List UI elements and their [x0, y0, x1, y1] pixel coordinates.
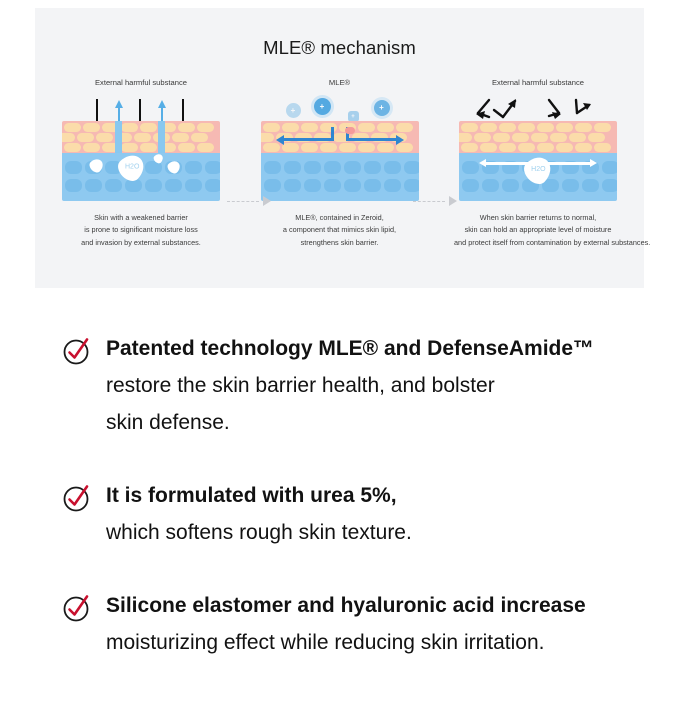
arrow-head-icon: [449, 196, 457, 206]
dermis-cells: [261, 153, 419, 201]
panel-1-artwork: H2O: [62, 95, 220, 203]
check-circle-icon: [62, 336, 92, 366]
bullet-line: Silicone elastomer and hyaluronic acid i…: [106, 587, 586, 624]
h2o-label: H2O: [525, 166, 551, 173]
bullet-line: moisturizing effect while reducing skin …: [106, 624, 586, 661]
diagram-panel-restored-barrier: External harmful substance: [454, 77, 622, 249]
h2o-label: H2O: [120, 163, 145, 170]
mle-spread-arrow-left: [283, 138, 334, 141]
panel-2-caption: MLE®, contained in Zeroid, a component t…: [256, 212, 424, 249]
mle-mechanism-diagram: MLE® mechanism External harmful substanc…: [35, 8, 644, 288]
mle-spread-arrow-right: [346, 138, 397, 141]
caption-line: When skin barrier returns to normal,: [454, 212, 622, 224]
check-circle-icon: [62, 593, 92, 623]
diagram-panel-mle-action: MLE® + + + +: [256, 77, 424, 249]
dashed-line: [227, 201, 259, 202]
caption-line: and invasion by external substances.: [57, 237, 225, 249]
mle-molecule: +: [314, 98, 331, 115]
lipid-spot: [345, 127, 355, 134]
skin-cross-section: H2O: [459, 121, 617, 201]
deflected-arrows-icon: [459, 97, 617, 123]
bullet-line: skin defense.: [106, 404, 594, 441]
skin-cross-section: [261, 121, 419, 201]
arrow-head-icon: [263, 196, 271, 206]
diagram-panels: External harmful substance: [35, 59, 644, 249]
bullet-item: Silicone elastomer and hyaluronic acid i…: [0, 587, 679, 661]
bullet-item: Patented technology MLE® and DefenseAmid…: [0, 330, 679, 441]
corneocyte-cells: [62, 121, 220, 153]
bullet-line: It is formulated with urea 5%,: [106, 477, 412, 514]
panel-2-artwork: + + + +: [261, 95, 419, 203]
check-circle-icon: [62, 483, 92, 513]
panel-3-caption: When skin barrier returns to normal, ski…: [454, 212, 622, 249]
panel-1-caption: Skin with a weakened barrier is prone to…: [57, 212, 225, 249]
flow-arrow-1: [227, 197, 271, 207]
molecule-symbol: +: [379, 104, 384, 112]
panel-2-label: MLE®: [256, 77, 424, 89]
bullet-line: restore the skin barrier health, and bol…: [106, 367, 594, 404]
caption-line: Skin with a weakened barrier: [57, 212, 225, 224]
bullet-text: It is formulated with urea 5%, which sof…: [106, 477, 412, 551]
flow-arrow-2: [413, 197, 457, 207]
mle-molecule: +: [374, 100, 390, 116]
molecule-symbol: +: [351, 114, 355, 120]
bullet-text: Silicone elastomer and hyaluronic acid i…: [106, 587, 586, 661]
caption-line: and protect itself from contamination by…: [454, 237, 622, 249]
bullet-line: Patented technology MLE® and DefenseAmid…: [106, 330, 594, 367]
feature-bullet-list: Patented technology MLE® and DefenseAmid…: [0, 330, 679, 697]
barrier-crack: [158, 121, 165, 153]
moisture-retention-arrow-right: [545, 162, 591, 165]
caption-line: is prone to significant moisture loss: [57, 224, 225, 236]
panel-1-label: External harmful substance: [57, 77, 225, 89]
bullet-item: It is formulated with urea 5%, which sof…: [0, 477, 679, 551]
caption-line: strengthens skin barrier.: [256, 237, 424, 249]
bullet-line: which softens rough skin texture.: [106, 514, 412, 551]
bullet-text: Patented technology MLE® and DefenseAmid…: [106, 330, 594, 441]
dashed-line: [413, 201, 445, 202]
caption-line: skin can hold an appropriate level of mo…: [454, 224, 622, 236]
panel-3-artwork: H2O: [459, 95, 617, 203]
molecule-symbol: +: [320, 103, 325, 111]
caption-line: a component that mimics skin lipid,: [256, 224, 424, 236]
molecule-symbol: +: [291, 107, 296, 115]
caption-line: MLE®, contained in Zeroid,: [256, 212, 424, 224]
panel-3-label: External harmful substance: [454, 77, 622, 89]
corneocyte-cells: [459, 121, 617, 153]
diagram-panel-weakened-barrier: External harmful substance: [57, 77, 225, 249]
product-info-page: MLE® mechanism External harmful substanc…: [0, 0, 679, 709]
diagram-title: MLE® mechanism: [35, 8, 644, 59]
barrier-crack: [115, 121, 122, 153]
mle-molecule: +: [286, 103, 301, 118]
skin-cross-section: H2O: [62, 121, 220, 201]
